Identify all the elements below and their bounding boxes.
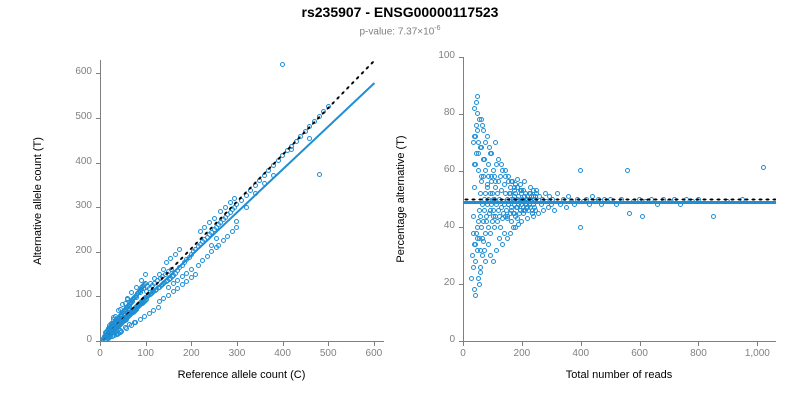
data-point xyxy=(505,214,510,219)
data-point xyxy=(471,214,476,219)
data-point xyxy=(472,287,477,292)
data-point xyxy=(515,177,520,182)
data-point xyxy=(498,225,503,230)
data-point xyxy=(493,185,498,190)
data-point xyxy=(483,168,488,173)
data-point xyxy=(490,191,495,196)
data-point xyxy=(471,231,476,236)
data-point xyxy=(491,214,496,219)
data-point xyxy=(502,231,507,236)
fit-line xyxy=(463,201,776,203)
data-point xyxy=(499,162,504,167)
y-tick-label: 0 xyxy=(419,334,455,345)
data-point xyxy=(477,208,482,213)
data-point xyxy=(506,174,511,179)
y-axis-title: Percentage alternative (T) xyxy=(395,135,407,262)
data-point xyxy=(503,168,508,173)
data-point xyxy=(472,185,477,190)
data-point xyxy=(476,276,481,281)
data-point xyxy=(536,211,541,216)
data-point xyxy=(481,219,486,224)
data-point xyxy=(476,151,481,156)
data-point xyxy=(476,168,481,173)
x-tick xyxy=(581,342,582,346)
data-point xyxy=(519,219,524,224)
x-tick-label: 600 xyxy=(615,348,665,359)
data-point xyxy=(474,100,479,105)
data-point xyxy=(473,259,478,264)
data-point xyxy=(479,179,484,184)
data-point xyxy=(578,168,583,173)
data-point xyxy=(640,214,645,219)
data-point xyxy=(473,293,478,298)
data-point xyxy=(486,242,491,247)
data-point xyxy=(483,191,488,196)
data-point xyxy=(489,151,494,156)
data-point xyxy=(481,128,486,133)
data-point xyxy=(489,174,494,179)
data-point xyxy=(488,253,493,258)
data-point xyxy=(476,140,481,145)
x-tick-label: 0 xyxy=(438,348,488,359)
data-point xyxy=(508,191,513,196)
data-point xyxy=(475,94,480,99)
data-point xyxy=(530,208,535,213)
data-point xyxy=(482,248,487,253)
data-point xyxy=(480,253,485,258)
plot-area xyxy=(463,57,776,342)
y-tick-label: 20 xyxy=(419,277,455,288)
panel-right-percentage: 02040608010002004006008001,000Percentage… xyxy=(0,0,800,400)
data-point xyxy=(498,174,503,179)
plot-canvas: rs235907 - ENSG00000117523 p-value: 7.37… xyxy=(0,0,800,400)
data-point xyxy=(494,248,499,253)
data-point xyxy=(478,248,483,253)
reference-line xyxy=(463,198,776,201)
data-point xyxy=(497,236,502,241)
x-tick-label: 200 xyxy=(497,348,547,359)
data-point xyxy=(478,270,483,275)
data-point xyxy=(522,179,527,184)
data-point xyxy=(478,191,483,196)
data-point xyxy=(491,168,496,173)
y-tick-label: 100 xyxy=(419,50,455,61)
data-point xyxy=(483,231,488,236)
data-point xyxy=(483,140,488,145)
y-tick-label: 80 xyxy=(419,107,455,118)
data-point xyxy=(578,225,583,230)
data-point xyxy=(761,165,766,170)
data-point xyxy=(487,145,492,150)
data-point xyxy=(488,231,493,236)
data-point xyxy=(473,162,478,167)
x-tick-label: 800 xyxy=(673,348,723,359)
data-point xyxy=(711,214,716,219)
data-point xyxy=(505,236,510,241)
data-point xyxy=(474,123,479,128)
data-point xyxy=(469,276,474,281)
data-point xyxy=(472,106,477,111)
data-point xyxy=(471,140,476,145)
data-point xyxy=(486,162,491,167)
x-tick xyxy=(757,342,758,346)
data-point xyxy=(477,282,482,287)
data-point xyxy=(475,111,480,116)
data-point xyxy=(479,145,484,150)
data-point xyxy=(509,219,514,224)
y-tick-label: 60 xyxy=(419,164,455,175)
data-point xyxy=(479,225,484,230)
data-point xyxy=(564,205,569,210)
data-point xyxy=(625,168,630,173)
data-point xyxy=(472,134,477,139)
data-point xyxy=(493,140,498,145)
data-point xyxy=(488,208,493,213)
data-point xyxy=(480,123,485,128)
x-tick xyxy=(522,342,523,346)
data-point xyxy=(485,185,490,190)
x-tick xyxy=(640,342,641,346)
data-point xyxy=(484,214,489,219)
data-point xyxy=(475,128,480,133)
data-point xyxy=(478,265,483,270)
x-tick xyxy=(463,342,464,346)
data-point xyxy=(512,211,517,216)
data-point xyxy=(495,219,500,224)
data-point xyxy=(515,205,520,210)
data-point xyxy=(481,157,486,162)
data-point xyxy=(470,253,475,258)
data-point xyxy=(471,265,476,270)
data-point xyxy=(492,225,497,230)
data-point xyxy=(478,214,483,219)
data-point xyxy=(491,259,496,264)
data-point xyxy=(525,216,530,221)
x-tick-label: 1,000 xyxy=(732,348,782,359)
y-tick-label: 40 xyxy=(419,220,455,231)
data-point xyxy=(496,157,501,162)
data-point xyxy=(552,208,557,213)
data-point xyxy=(500,242,505,247)
data-point xyxy=(473,242,478,247)
data-point xyxy=(479,117,484,122)
x-tick xyxy=(698,342,699,346)
x-axis-title: Total number of reads xyxy=(463,369,775,381)
data-point xyxy=(508,231,513,236)
data-point xyxy=(475,225,480,230)
x-tick-label: 400 xyxy=(556,348,606,359)
data-point xyxy=(485,134,490,139)
data-point xyxy=(486,225,491,230)
data-point xyxy=(627,211,632,216)
data-point xyxy=(555,191,560,196)
data-point xyxy=(483,259,488,264)
